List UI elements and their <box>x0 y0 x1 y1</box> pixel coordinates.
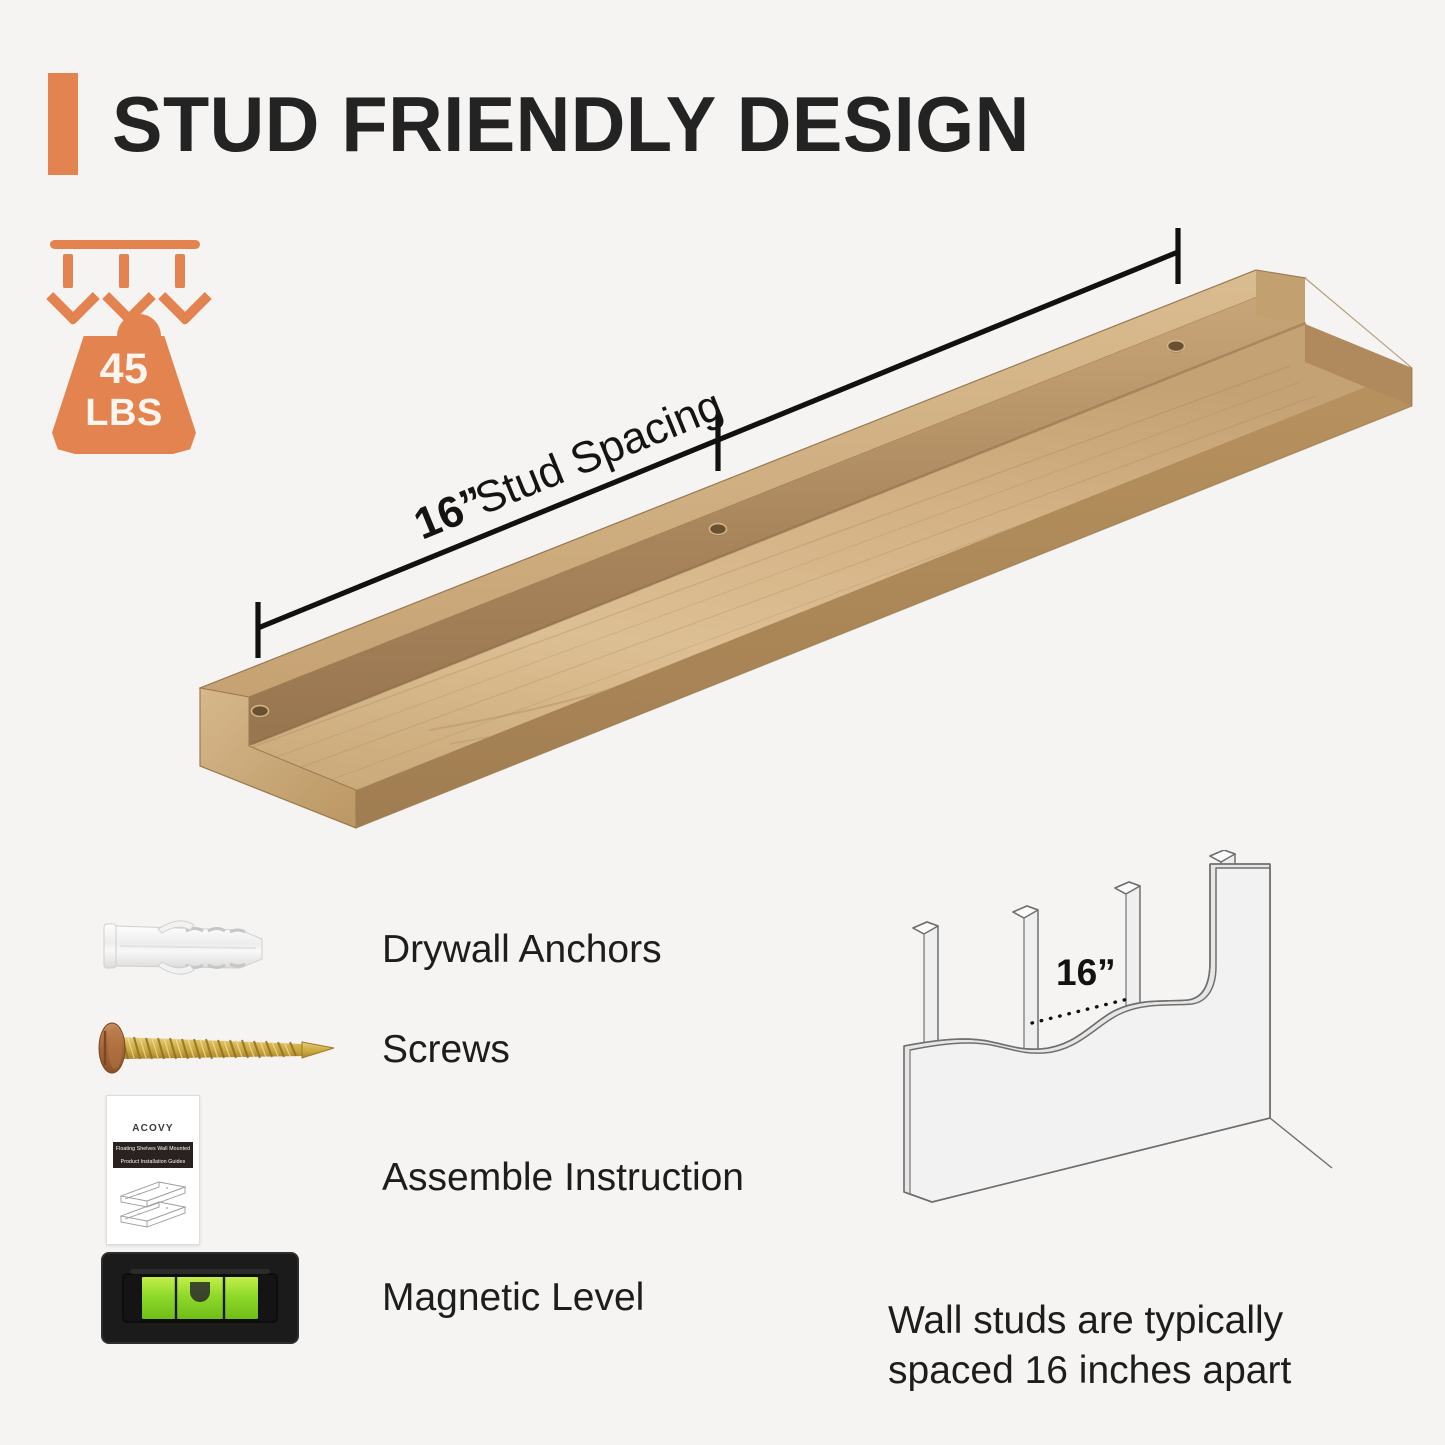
manual-brand: ACOVY <box>107 1123 199 1134</box>
shelf-rail-right-end <box>1256 270 1305 324</box>
header-accent-bar <box>48 73 78 175</box>
manual-title-band: Floating Shelves Wall Mounted Product In… <box>113 1142 193 1168</box>
wall-diagram-caption: Wall studs are typically spaced 16 inche… <box>888 1296 1358 1396</box>
caption-line-1: Wall studs are typically <box>888 1296 1358 1346</box>
wall-stud <box>1013 906 1038 1068</box>
instruction-manual-icon: ACOVY Floating Shelves Wall Mounted Prod… <box>90 1103 290 1253</box>
wall-dimension-label: 16” <box>1056 952 1116 993</box>
accessory-label: Magnetic Level <box>382 1243 644 1353</box>
wood-shelf <box>200 270 1412 828</box>
list-item: Drywall Anchors <box>90 895 810 1005</box>
list-item: Screws <box>90 995 810 1105</box>
manual-shelf-diagram <box>115 1176 191 1234</box>
accessory-label: Screws <box>382 995 510 1105</box>
manual-subtitle-1: Floating Shelves Wall Mounted <box>113 1142 193 1155</box>
list-item: ACOVY Floating Shelves Wall Mounted Prod… <box>90 1103 810 1213</box>
infographic-canvas: STUD FRIENDLY DESIGN 45 LBS <box>0 0 1445 1445</box>
screw-icon <box>90 995 290 1105</box>
wall-stud-diagram: 16” <box>880 850 1350 1270</box>
accessory-label: Drywall Anchors <box>382 895 662 1005</box>
page-title: STUD FRIENDLY DESIGN <box>112 60 1030 188</box>
down-arrow-icon <box>50 254 86 306</box>
manual-subtitle-2: Product Installation Guides <box>113 1155 193 1168</box>
drywall-sheet <box>904 864 1332 1202</box>
magnetic-level-icon <box>90 1243 290 1353</box>
list-item: Magnetic Level <box>90 1243 810 1353</box>
header: STUD FRIENDLY DESIGN <box>0 60 1445 190</box>
manual-cover: ACOVY Floating Shelves Wall Mounted Prod… <box>106 1095 200 1245</box>
accessory-list: Drywall Anchors <box>90 895 810 1395</box>
accessory-label: Assemble Instruction <box>382 1103 744 1253</box>
shelf-hero-illustration: 16” Stud Spacing <box>130 210 1430 830</box>
caption-line-2: spaced 16 inches apart <box>888 1346 1358 1396</box>
drywall-anchor-icon <box>90 895 290 1005</box>
